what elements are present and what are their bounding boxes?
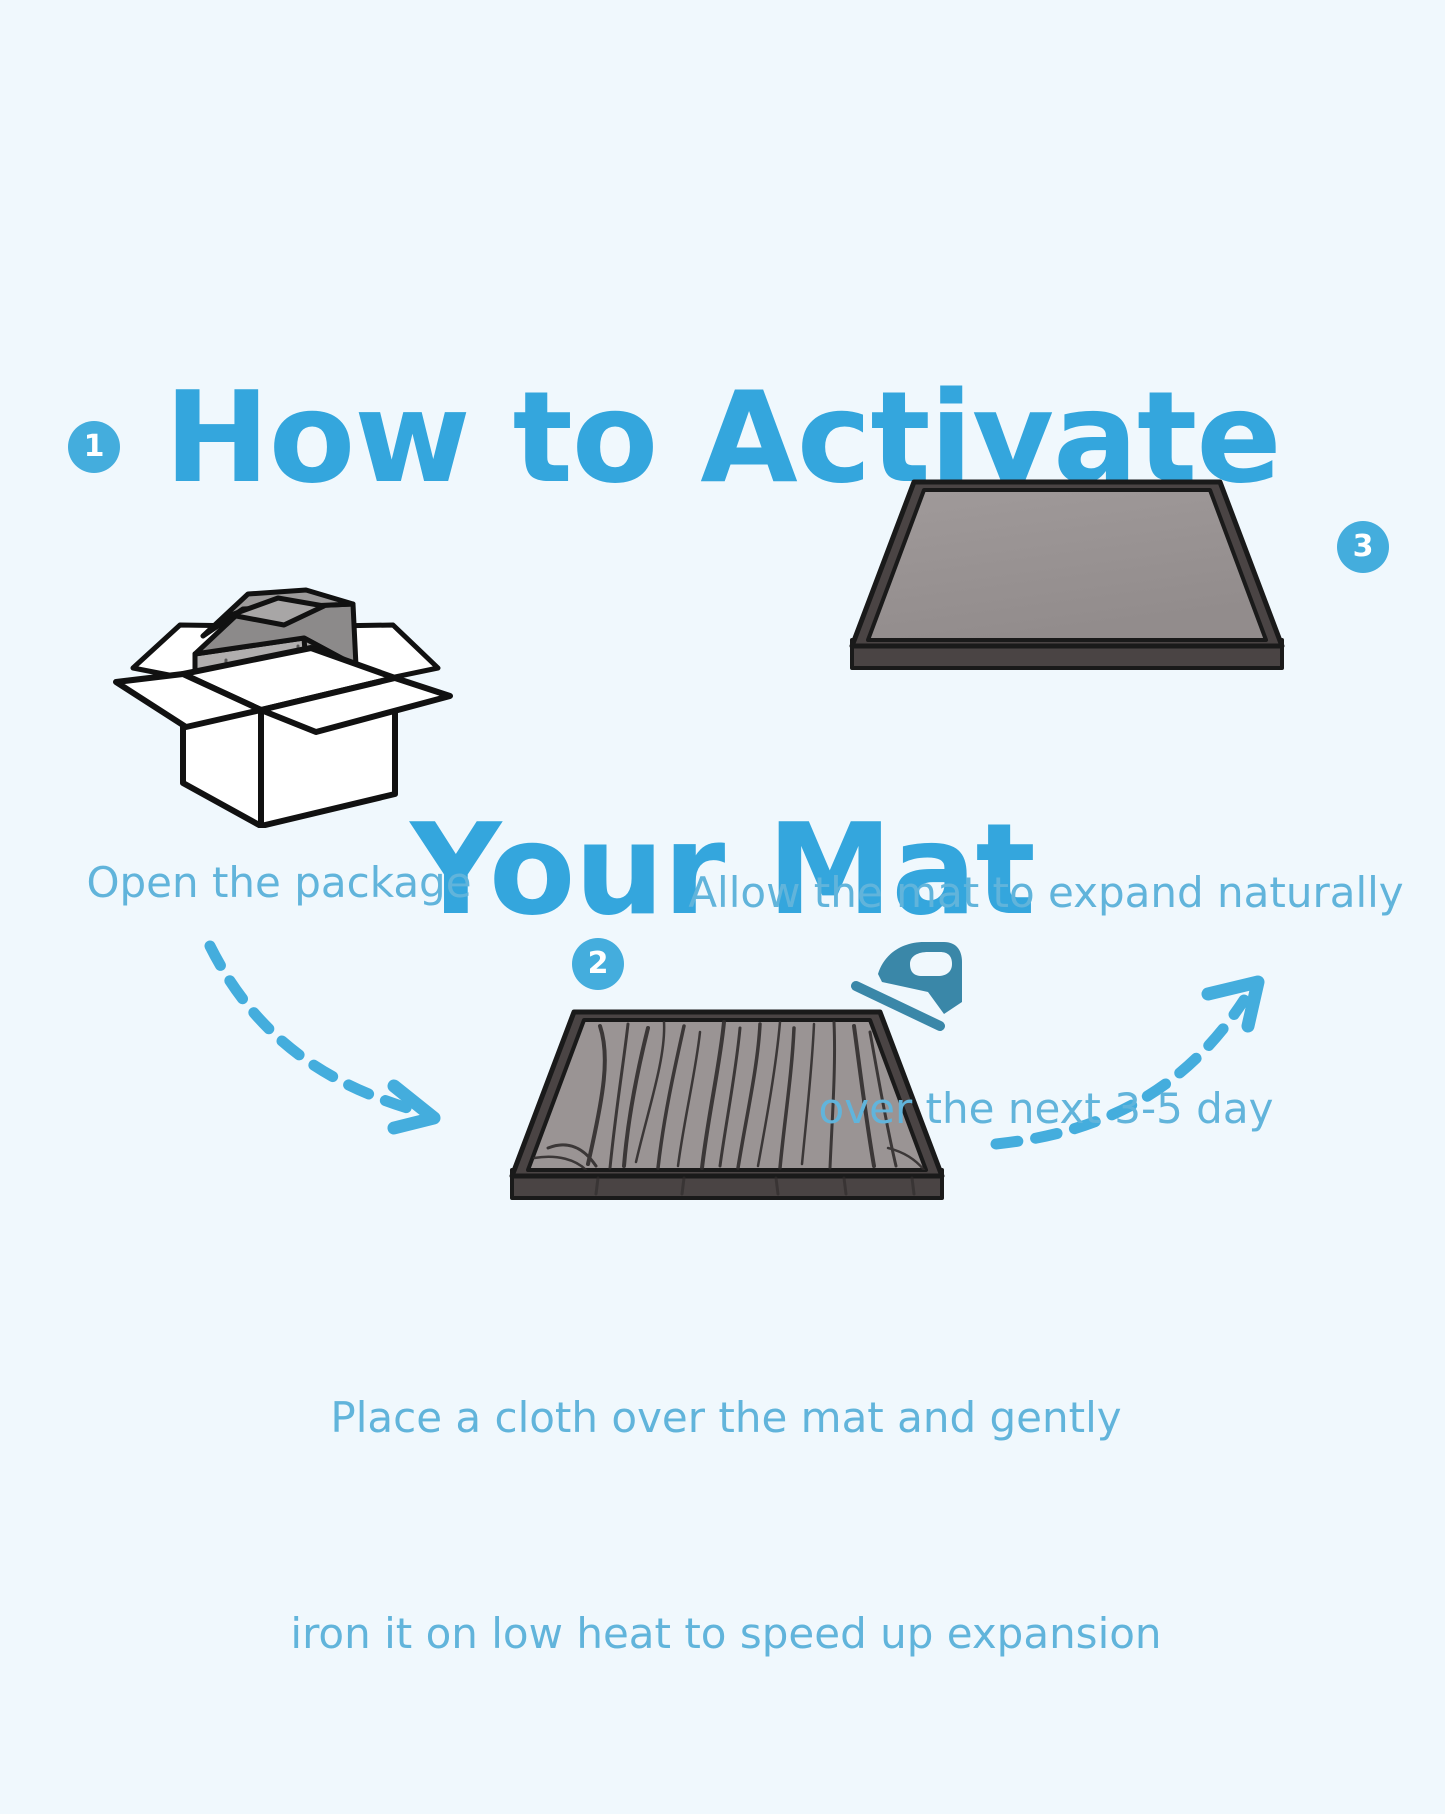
step-2-caption-line-2: iron it on low heat to speed up expansio… [248,1598,1204,1670]
step-badge-3: 3 [1337,521,1389,573]
step-3-caption-line-1: Allow the mat to expand naturally [672,857,1420,929]
step-2-caption: Place a cloth over the mat and gently ir… [248,1238,1204,1814]
step-3-caption: Allow the mat to expand naturally over t… [672,713,1420,1289]
step-badge-1: 1 [68,421,120,473]
open-box-icon [98,478,468,828]
step-badge-2: 2 [572,938,624,990]
infographic-canvas: How to Activate Your Mat 1 [0,0,1445,1445]
step-2-caption-line-1: Place a cloth over the mat and gently [248,1382,1204,1454]
flat-mat-icon [828,468,1306,690]
step-1-caption: Open the package [18,847,540,919]
arrow-step1-to-step2-icon [172,928,492,1140]
step-3-caption-line-2: over the next 3-5 day [672,1073,1420,1145]
